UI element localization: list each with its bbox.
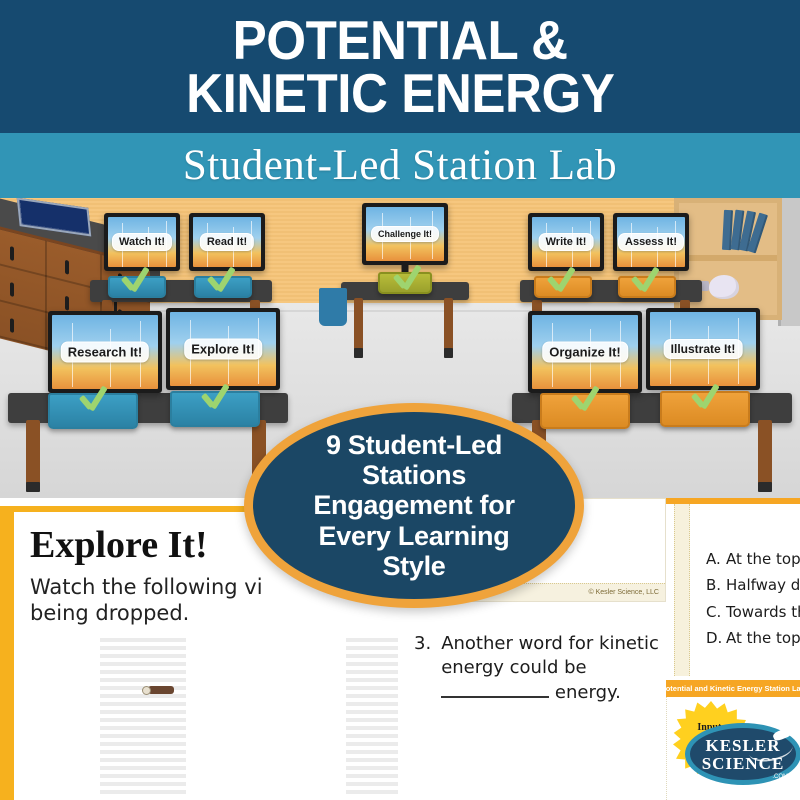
station-label: Organize It! [542, 342, 628, 363]
leg-foot [354, 348, 363, 358]
answer-blank-line[interactable] [441, 682, 549, 698]
option-text-a: At the top of [726, 550, 800, 568]
option-row-c[interactable]: C.Towards the [706, 599, 800, 625]
check-mark-icon [628, 262, 662, 296]
monitor-screen: Challenge It! [366, 207, 444, 261]
slide-footer-copyright: © Kesler Science, LLC [588, 589, 659, 596]
poster-root: POTENTIAL & KINETIC ENERGY Student-Led S… [0, 0, 800, 800]
header-teal-band: Student-Led Station Lab [0, 133, 800, 198]
card-footer-text: Potential and Kinetic Energy Station Lab [661, 684, 800, 693]
leg-foot [758, 482, 772, 492]
question-line2: energy could be [441, 656, 659, 680]
station-monitor-illustrate-it: Illustrate It! [646, 308, 760, 390]
check-mark-icon [204, 262, 238, 296]
trash-can [319, 288, 347, 326]
cabinet-handle [10, 282, 14, 297]
logo-tld: .COM [772, 774, 788, 780]
option-letter-a: A. [706, 546, 726, 572]
question-line1: Another word for kinetic [441, 632, 659, 656]
option-row-b[interactable]: B.Halfway dow [706, 572, 800, 598]
cabinet-handle [65, 260, 69, 275]
option-text-c: Towards the [726, 603, 800, 621]
light-bulb-icon [709, 275, 739, 299]
logo-card: Input: Read It! KESLER SCIENCE .COM [666, 697, 800, 800]
falling-ball-shape [142, 686, 151, 695]
card-side-strip [674, 504, 690, 676]
monitor-screen: Illustrate It! [650, 312, 756, 386]
option-letter-d: D. [706, 625, 726, 651]
question-line3: energy. [555, 682, 621, 703]
badge-line-2: Stations [362, 460, 466, 490]
card-footer-banner: Potential and Kinetic Energy Station Lab [666, 680, 800, 697]
logo-line1: KESLER [685, 736, 800, 756]
station-label: Write It! [539, 233, 594, 251]
cabinet-handle [65, 296, 69, 311]
badge-line-1: 9 Student-Led [326, 430, 502, 460]
station-label: Challenge It! [371, 226, 439, 242]
check-mark-icon [688, 379, 722, 413]
monitor-screen: Organize It! [532, 315, 638, 389]
station-label: Read It! [200, 233, 254, 251]
feature-badge-oval: 9 Student-Led Stations Engagement for Ev… [244, 403, 584, 608]
monitor-screen: Read It! [193, 217, 261, 267]
station-label: Watch It! [112, 233, 172, 251]
kesler-science-logo[interactable]: KESLER SCIENCE .COM [685, 723, 800, 785]
table-leg [26, 420, 40, 492]
check-mark-icon [118, 262, 152, 296]
table-leg [758, 420, 772, 492]
badge-line-5: Style [382, 551, 445, 581]
question-card: 3. Another word for kinetic energy could… [398, 606, 666, 800]
page-title-line1: POTENTIAL & [233, 14, 568, 67]
option-letter-c: C. [706, 599, 726, 625]
video-thumbnail-left[interactable] [100, 634, 186, 794]
monitor-screen: Research It! [52, 315, 158, 389]
station-label: Explore It! [184, 339, 262, 360]
question-line3-wrap: energy. [441, 681, 659, 705]
check-mark-icon [390, 260, 424, 294]
header-navy-band: POTENTIAL & KINETIC ENERGY [0, 0, 800, 133]
table-leg [354, 298, 363, 358]
option-text-b: Halfway dow [726, 576, 800, 594]
table-leg [444, 298, 453, 358]
monitor-screen: Explore It! [170, 312, 276, 386]
cabinet-handle [10, 318, 14, 333]
leg-foot [26, 482, 40, 492]
station-label: Assess It! [618, 233, 684, 251]
station-monitor-explore-it: Explore It! [166, 308, 280, 390]
question-number: 3. [414, 632, 431, 705]
station-label: Illustrate It! [664, 339, 743, 359]
page-subtitle: Student-Led Station Lab [183, 144, 617, 187]
monitor-screen: Assess It! [617, 217, 685, 267]
bookshelf-divider [679, 255, 777, 261]
page-title-line2: KINETIC ENERGY [186, 67, 614, 120]
monitor-screen: Write It! [532, 217, 600, 267]
option-letter-b: B. [706, 572, 726, 598]
preview-panel-right[interactable]: A.At the top of B.Halfway dow C.Towards … [666, 498, 800, 800]
check-mark-icon [198, 379, 232, 413]
check-mark-icon [76, 381, 110, 415]
check-mark-icon [544, 262, 578, 296]
option-row-a[interactable]: A.At the top of [706, 546, 800, 572]
badge-line-3: Engagement for [313, 490, 514, 520]
station-label: Research It! [61, 342, 149, 363]
option-row-d[interactable]: D.At the top of [706, 625, 800, 651]
leg-foot [444, 348, 453, 358]
check-mark-icon [568, 381, 602, 415]
cabinet-handle [10, 246, 14, 261]
multiple-choice-card: A.At the top of B.Halfway dow C.Towards … [666, 498, 800, 680]
hand-arm-shape [148, 686, 174, 694]
monitor-screen: Watch It! [108, 217, 176, 267]
logo-line2: SCIENCE [685, 754, 800, 774]
explore-it-body-line2: being dropped. [30, 600, 376, 626]
station-monitor-challenge-it: Challenge It! [362, 203, 448, 265]
option-text-d: At the top of [726, 629, 800, 647]
badge-line-4: Every Learning [319, 521, 510, 551]
